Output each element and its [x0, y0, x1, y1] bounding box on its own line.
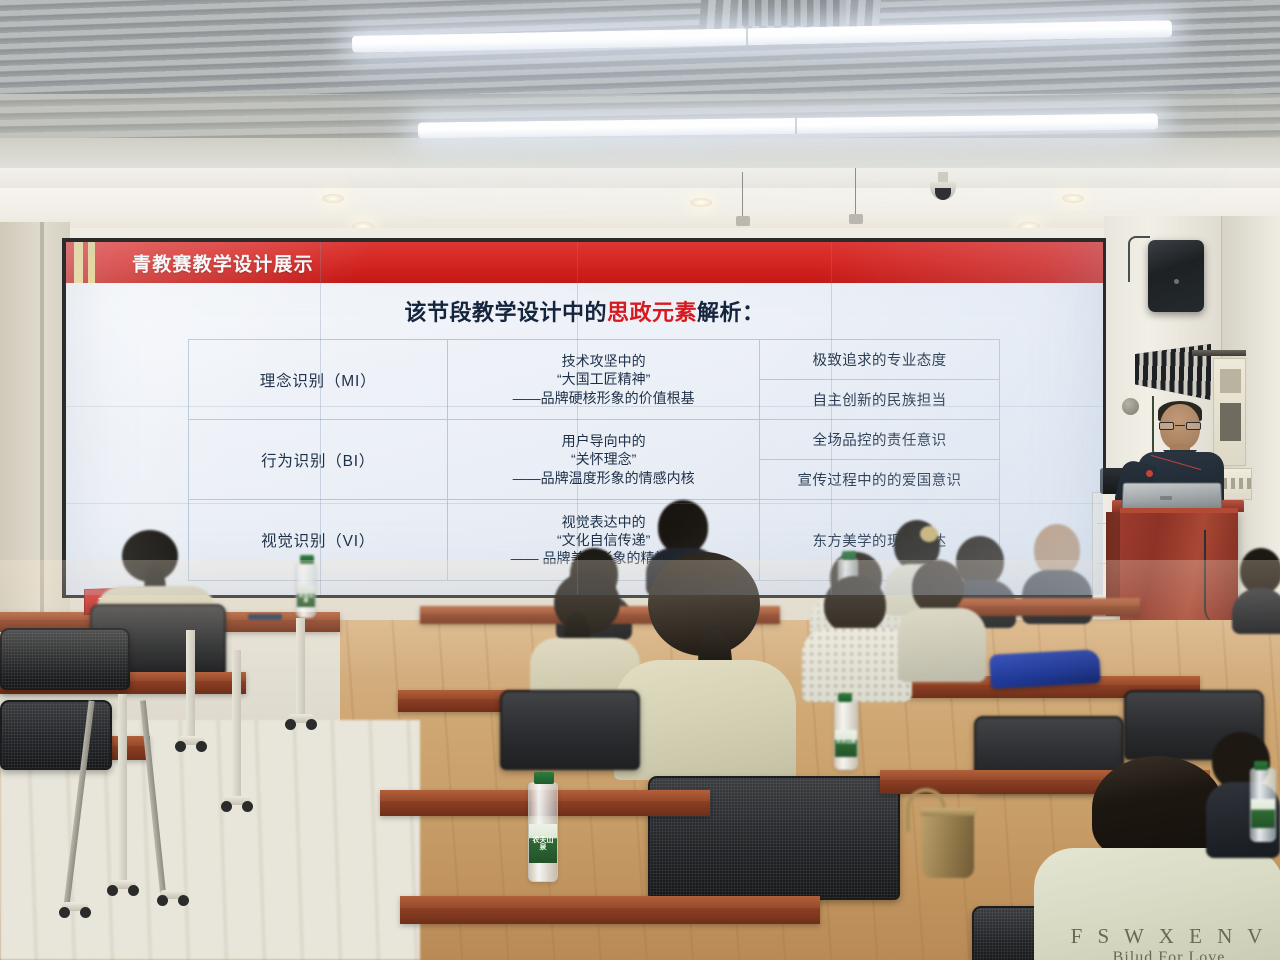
- matrix-value-text: 全场品控的责任意识: [812, 429, 946, 450]
- audience-person: [802, 576, 912, 696]
- desk-caster: [110, 880, 136, 889]
- bottle-label: [1251, 799, 1275, 828]
- bottle-cap: [534, 772, 554, 784]
- video-wall-seam: [66, 503, 1103, 504]
- bottle-cap: [300, 555, 314, 564]
- slide-banner-title: 青教赛教学设计展示: [132, 249, 314, 276]
- person-torso: [1034, 848, 1280, 960]
- matrix-values-cell: 全场品控的责任意识 宣传过程中的的爱国意识: [760, 420, 999, 499]
- bottle-label: 农夫山泉: [297, 586, 315, 608]
- ceiling-ribbed-panel: [0, 0, 1280, 100]
- desk-caster: [224, 796, 250, 805]
- microphone-icon: [1146, 470, 1153, 477]
- bottle-label: 农夫山泉: [835, 730, 857, 757]
- podium-cable: [1204, 530, 1226, 626]
- matrix-concept-cell: 用户导向中的 “关怀理念” ——品牌温度形象的情感内核: [448, 420, 760, 499]
- ceiling-hanger-box-2: [849, 214, 863, 224]
- audience-person: [1232, 548, 1280, 628]
- desk-caster: [288, 714, 314, 723]
- audience-person: [898, 560, 986, 678]
- desk-leg: [186, 630, 195, 736]
- person-torso: [898, 608, 986, 682]
- ceiling-hanger-wire: [742, 172, 743, 220]
- matrix-category-label: 行为识别（BI）: [261, 449, 375, 471]
- matrix-value-item: 全场品控的责任意识: [760, 420, 999, 460]
- person-head: [1092, 756, 1224, 860]
- hair-tie-icon: [920, 526, 938, 542]
- slide-title-highlight: 思政元素: [607, 300, 697, 325]
- matrix-value-text: 极致追求的专业态度: [812, 349, 946, 370]
- bottle-brand-text: 农夫山泉: [298, 594, 314, 604]
- left-wall-edge: [40, 222, 44, 652]
- wall-shelf: [1192, 350, 1246, 356]
- person-head: [912, 560, 964, 614]
- person-torso: [802, 628, 912, 702]
- left-wall-column: [0, 222, 70, 652]
- chair-caster: [160, 890, 186, 899]
- ceiling-downlight-3: [1062, 194, 1084, 203]
- chair: [0, 628, 130, 690]
- person-head: [658, 500, 708, 554]
- desk-leg: [296, 618, 305, 714]
- matrix-category-cell: 视觉识别（VI）: [189, 500, 448, 580]
- glasses-icon: [1159, 422, 1201, 430]
- video-wall-seam: [320, 242, 321, 595]
- matrix-concept-text: 技术攻坚中的 “大国工匠精神” ——品牌硬核形象的价值根基: [513, 352, 695, 407]
- desk-leg: [232, 650, 241, 796]
- water-bottle[interactable]: 农夫山泉: [296, 562, 316, 618]
- ceiling-band-upper: [0, 138, 1280, 170]
- ceiling-hanger-wire-2: [855, 168, 856, 220]
- chair: [500, 690, 640, 770]
- matrix-category-cell: 理念识别（MI）: [189, 340, 448, 419]
- matrix-values-cell: 极致追求的专业态度 自主创新的民族担当: [760, 340, 999, 419]
- concept-line-3: ——品牌硬核形象的价值根基: [513, 389, 695, 407]
- bottle-brand-text: 农夫山泉: [530, 837, 556, 851]
- water-bottle[interactable]: [1250, 768, 1276, 842]
- desk: [400, 896, 820, 924]
- video-wall-seam: [577, 242, 578, 595]
- slide-title: 该节段教学设计中的思政元素解析：: [66, 295, 1103, 327]
- slide-banner: 青教赛教学设计展示: [66, 242, 1103, 283]
- table-row: 行为识别（BI） 用户导向中的 “关怀理念” ——品牌温度形象的情感内核 全场: [189, 420, 999, 500]
- video-wall-seam: [831, 242, 832, 595]
- ceiling-hanger-box: [736, 216, 750, 226]
- audience-person-foreground: [614, 552, 796, 752]
- ci-matrix-table: 理念识别（MI） 技术攻坚中的 “大国工匠精神” ——品牌硬核形象的价值根基: [188, 339, 1000, 581]
- bottle-cap: [1254, 761, 1268, 770]
- bottle-cap: [842, 551, 856, 560]
- matrix-value-item: 宣传过程中的的爱国意识: [760, 460, 999, 499]
- lecture-hall-scene: 青教赛教学设计展示 该节段教学设计中的思政元素解析： 理念识别（MI）: [0, 0, 1280, 960]
- person-head-bald: [1034, 524, 1080, 576]
- ceiling-downlight-1: [322, 194, 344, 203]
- matrix-value-item: 自主创新的民族担当: [760, 380, 999, 419]
- matrix-category-cell: 行为识别（BI）: [189, 420, 448, 499]
- chair: [0, 700, 112, 770]
- desk-caster: [178, 736, 204, 745]
- concept-line-3: ——品牌温度形象的情感内核: [513, 469, 695, 487]
- banner-stripe-2: [88, 242, 95, 283]
- matrix-category-label: 视觉识别（VI）: [261, 529, 375, 551]
- person-head: [824, 576, 886, 634]
- bottle-label: 农夫山泉: [529, 824, 557, 863]
- slide-title-suffix: 解析：: [697, 300, 765, 325]
- matrix-concept-text: 用户导向中的 “关怀理念” ——品牌温度形象的情感内核: [513, 432, 695, 487]
- pen-icon: [248, 614, 282, 620]
- bottle-brand-text: 农夫山泉: [836, 740, 856, 745]
- trash-bin: [922, 812, 974, 878]
- table-row: 理念识别（MI） 技术攻坚中的 “大国工匠精神” ——品牌硬核形象的价值根基: [189, 340, 999, 420]
- bottle-cap: [838, 693, 852, 702]
- matrix-value-item: 极致追求的专业态度: [760, 340, 999, 380]
- person-torso: [614, 660, 796, 780]
- video-wall-seam: [66, 406, 1103, 407]
- concept-line-2: “关怀理念”: [513, 450, 695, 468]
- concept-line-1: 技术攻坚中的: [513, 352, 695, 370]
- ceiling-duct-inner: [742, 0, 846, 26]
- matrix-concept-cell: 技术攻坚中的 “大国工匠精神” ——品牌硬核形象的价值根基: [448, 340, 760, 419]
- matrix-value-text: 宣传过程中的的爱国意识: [798, 469, 962, 490]
- ceiling-downlight-2: [690, 198, 712, 207]
- blue-jacket: [989, 649, 1101, 689]
- matrix-category-label: 理念识别（MI）: [260, 369, 377, 391]
- speaker-cable: [1128, 236, 1150, 282]
- concept-line-1: 用户导向中的: [513, 432, 695, 450]
- person-torso: [1232, 588, 1280, 634]
- wall-speaker-icon: [1148, 240, 1204, 312]
- chair-caster: [62, 902, 88, 911]
- water-bottle[interactable]: 农夫山泉: [834, 700, 858, 770]
- desk-leg: [118, 694, 127, 880]
- ceiling-band-mid: [0, 168, 1280, 190]
- banner-stripe-1: [74, 242, 83, 283]
- water-bottle[interactable]: 农夫山泉: [528, 782, 558, 882]
- ceiling-band-lower: [0, 188, 1280, 222]
- concept-line-2: “大国工匠精神”: [513, 370, 695, 388]
